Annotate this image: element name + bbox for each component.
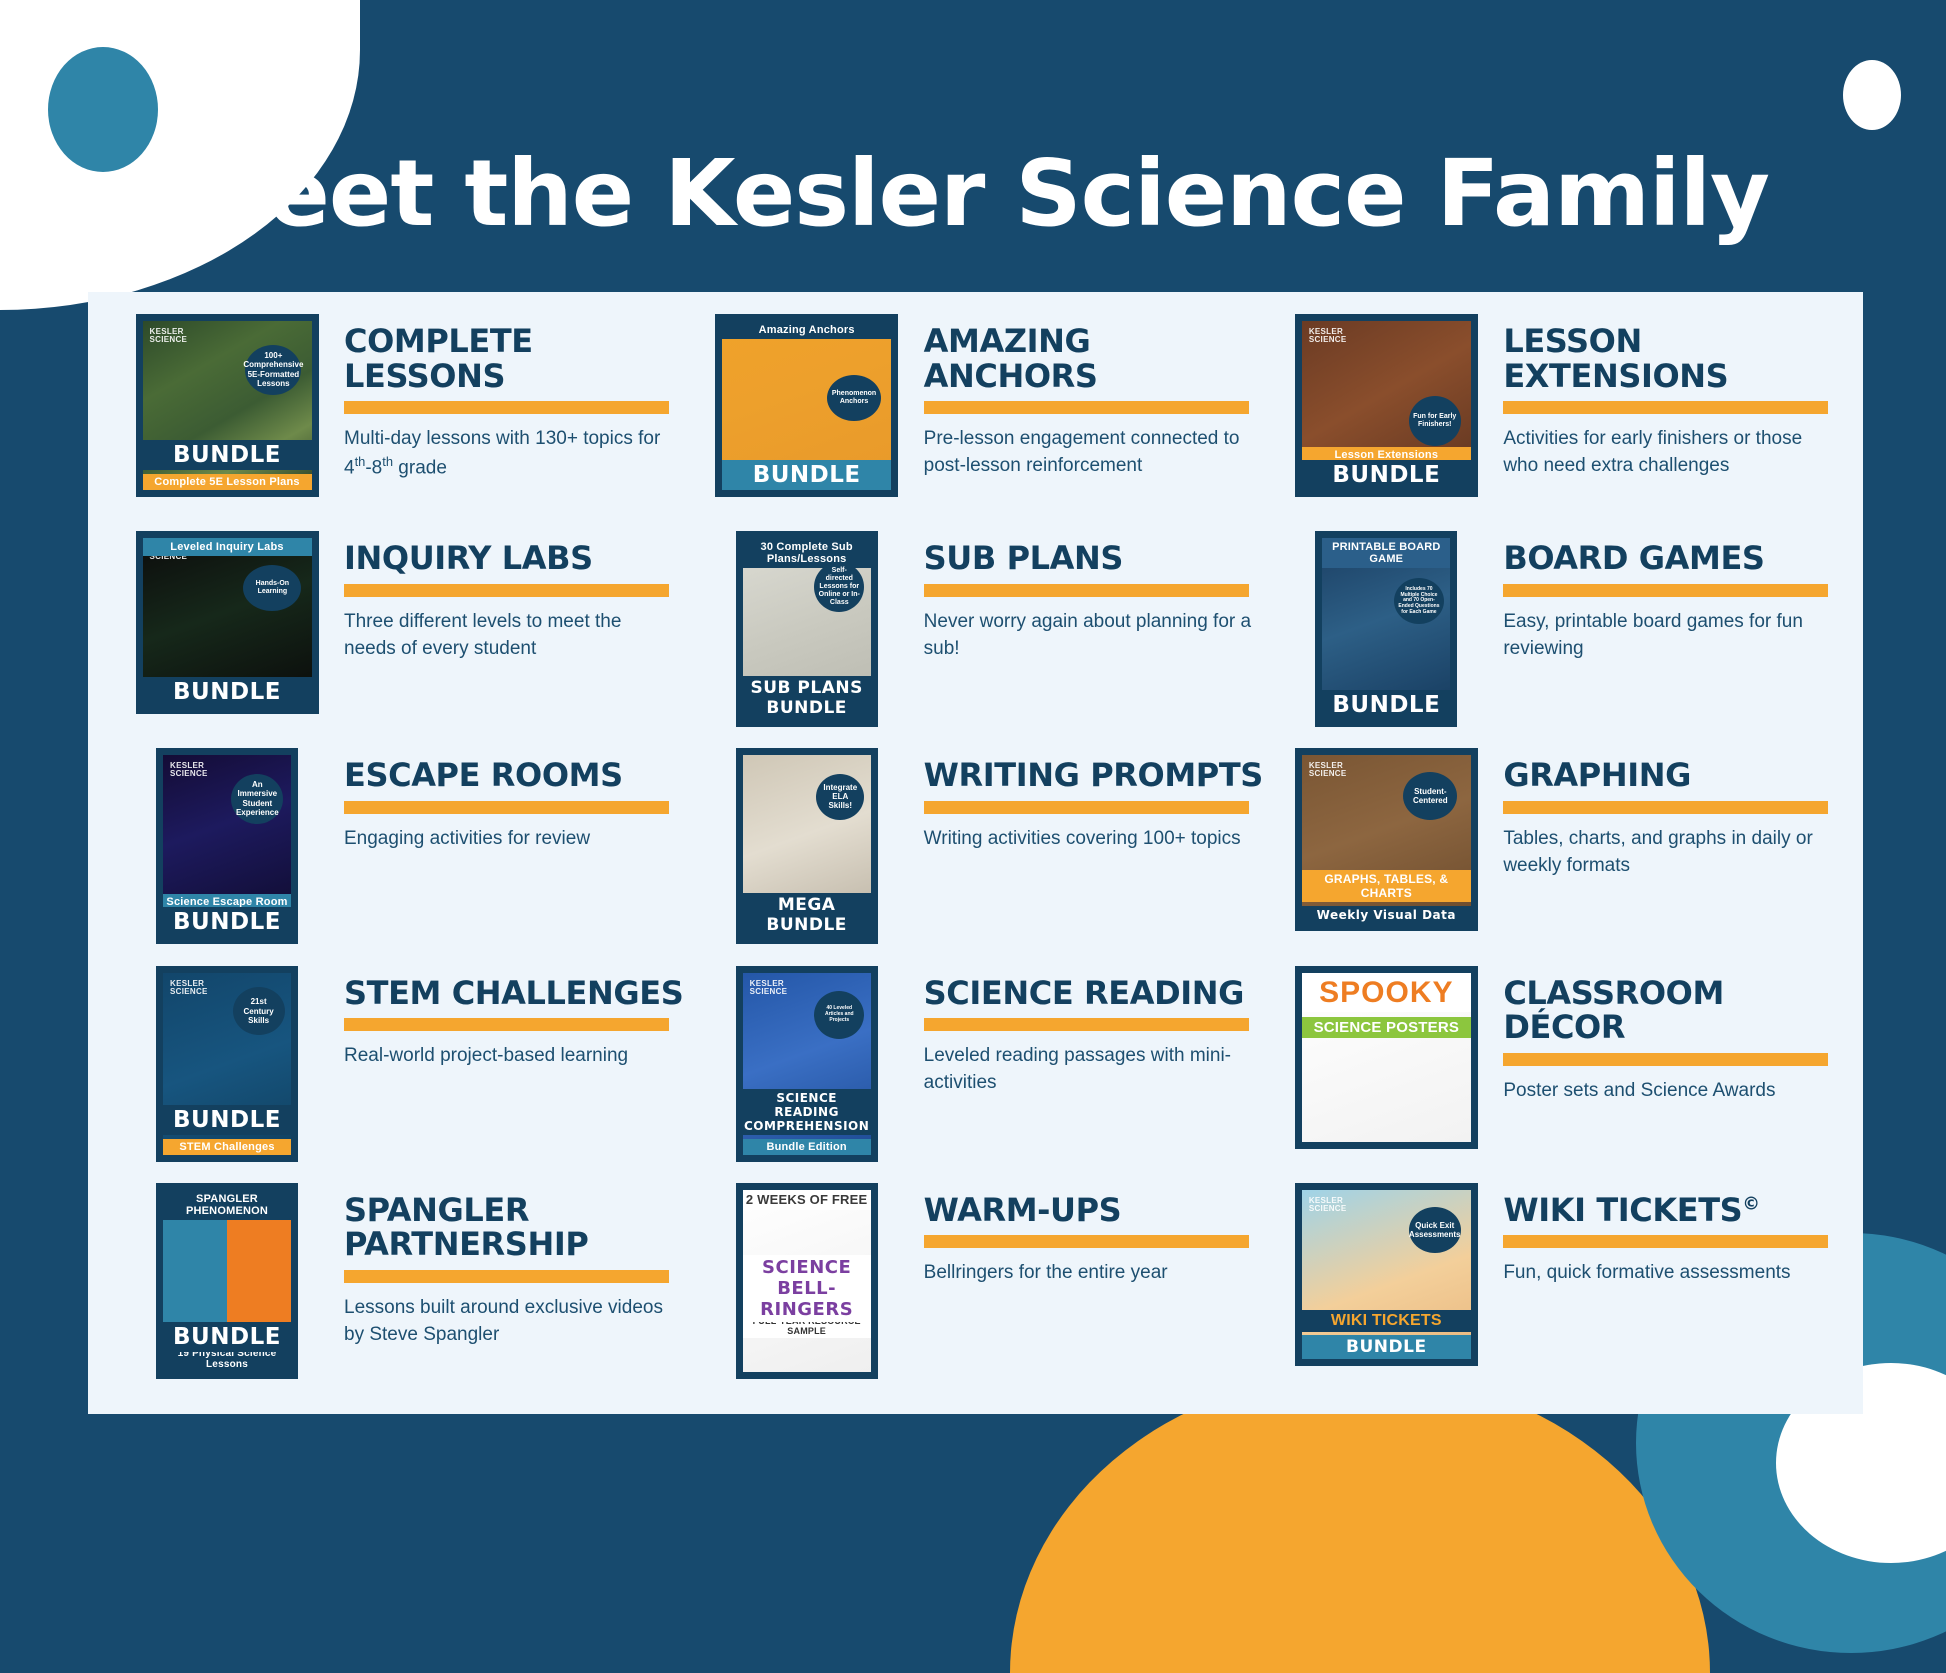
product-title: INQUIRY LABS [344, 541, 686, 576]
product-card[interactable]: 2 WEEKS OF FREEFULL-YEAR RESOURCE SAMPLE… [690, 1183, 1266, 1400]
product-thumbnail[interactable]: KESLER SCIENCELeveled Inquiry LabsHands-… [136, 531, 319, 714]
copyright-superscript: © [1742, 1194, 1759, 1214]
product-card[interactable]: KESLER SCIENCESPANGLER PHENOMENON19 Phys… [110, 1183, 686, 1400]
product-info: LESSON EXTENSIONSActivities for early fi… [1481, 314, 1845, 480]
thumbnail-top-label: PRINTABLE BOARD GAME [1322, 538, 1450, 568]
product-thumbnail[interactable]: KESLER SCIENCE21st Century SkillsSTEM Ch… [156, 966, 298, 1162]
product-card[interactable]: KESLER SCIENCE40 Leveled Articles and Pr… [690, 966, 1266, 1183]
product-description: Writing activities covering 100+ topics [924, 826, 1254, 853]
thumbnail-bundle-label: MEGA BUNDLE [743, 893, 871, 937]
thumbnail-badge: An Immersive Student Experience [231, 774, 283, 824]
product-info: BOARD GAMESEasy, printable board games f… [1481, 531, 1845, 662]
product-thumbnail-wrap: 30 Complete Sub Plans/LessonsSelf-direct… [712, 531, 902, 727]
product-thumbnail-wrap: KESLER SCIENCESPANGLER PHENOMENON19 Phys… [132, 1183, 322, 1379]
product-description: Activities for early finishers or those … [1503, 426, 1833, 480]
product-thumbnail-wrap: KESLER SCIENCE40 Leveled Articles and Pr… [712, 966, 902, 1162]
product-info: WIKI TICKETS©Fun, quick formative assess… [1481, 1183, 1845, 1288]
product-thumbnail-wrap: KESLER SCIENCEStudent-CenteredGRAPHS, TA… [1291, 748, 1481, 931]
product-thumbnail[interactable]: KESLER SCIENCESPANGLER PHENOMENON19 Phys… [156, 1183, 298, 1379]
product-thumbnail-wrap: KESLER SCIENCEPRINTABLE BOARD GAMEInclud… [1291, 531, 1481, 727]
product-thumbnail[interactable]: Amazing AnchorsPhenomenon AnchorsBUNDLE [715, 314, 898, 497]
product-description: Lessons built around exclusive videos by… [344, 1295, 674, 1349]
thumbnail-badge: Integrate ELA Skills! [816, 774, 864, 820]
thumbnail-bundle-label: BUNDLE [163, 1105, 291, 1135]
product-description: Leveled reading passages with mini-activ… [924, 1043, 1254, 1097]
product-info: COMPLETE LESSONSMulti-day lessons with 1… [322, 314, 686, 482]
thumbnail-top-label: 30 Complete Sub Plans/Lessons [743, 538, 871, 568]
kesler-science-logo: KESLER SCIENCE [1309, 1197, 1361, 1213]
product-description: Multi-day lessons with 130+ topics for 4… [344, 426, 674, 482]
thumbnail-badge: Includes 70 Multiple Choice and 70 Open-… [1394, 578, 1444, 624]
orange-divider [344, 401, 669, 414]
product-grid: KESLER SCIENCE100+ Comprehensive 5E-Form… [88, 292, 1863, 1414]
orange-divider [924, 1235, 1249, 1248]
product-description: Tables, charts, and graphs in daily or w… [1503, 826, 1833, 880]
product-description: Bellringers for the entire year [924, 1260, 1254, 1287]
thumbnail-bundle-label: SCIENCE READING COMPREHENSION [743, 1089, 871, 1135]
thumbnail-bundle-label: BUNDLE [1322, 690, 1450, 720]
orange-divider [1503, 1235, 1828, 1248]
kesler-science-logo: KESLER SCIENCE [150, 328, 202, 344]
product-description: Never worry again about planning for a s… [924, 609, 1254, 663]
thumbnail-badge: Fun for Early Finishers! [1409, 396, 1461, 446]
product-card[interactable]: Amazing AnchorsPhenomenon AnchorsBUNDLEA… [690, 314, 1266, 531]
product-thumbnail-wrap: SPOOKYSCIENCE POSTERS [1291, 966, 1481, 1149]
thumbnail-badge: Phenomenon Anchors [827, 375, 881, 421]
thumbnail-badge: 100+ Comprehensive 5E-Formatted Lessons [245, 345, 301, 395]
thumbnail-sub-label: Complete 5E Lesson Plans [143, 474, 312, 490]
product-title: CLASSROOM DÉCOR [1503, 976, 1845, 1045]
product-thumbnail-wrap: KESLER SCIENCELeveled Inquiry LabsHands-… [132, 531, 322, 714]
product-thumbnail[interactable]: KESLER SCIENCEPRINTABLE BOARD GAMEInclud… [1315, 531, 1457, 727]
thumbnail-top-label: Leveled Inquiry Labs [143, 538, 312, 556]
orange-divider [1503, 1053, 1828, 1066]
product-title: BOARD GAMES [1503, 541, 1845, 576]
family-panel: KESLER SCIENCE100+ Comprehensive 5E-Form… [88, 292, 1863, 1414]
product-thumbnail[interactable]: Integrate ELA Skills!Science Writing Pro… [736, 748, 878, 944]
product-info: STEM CHALLENGESReal-world project-based … [322, 966, 686, 1071]
thumbnail-bundle-label: Weekly Visual Data [1302, 906, 1471, 924]
product-title: SPANGLER PARTNERSHIP [344, 1193, 686, 1262]
product-info: ESCAPE ROOMSEngaging activities for revi… [322, 748, 686, 853]
thumbnail-badge: 21st Century Skills [233, 987, 285, 1035]
orange-divider [1503, 584, 1828, 597]
product-thumbnail-wrap: KESLER SCIENCEFun for Early Finishers!Le… [1291, 314, 1481, 497]
orange-divider [344, 801, 669, 814]
product-info: GRAPHINGTables, charts, and graphs in da… [1481, 748, 1845, 879]
thumbnail-top-label: Amazing Anchors [722, 321, 891, 339]
product-description: Poster sets and Science Awards [1503, 1078, 1833, 1105]
kesler-science-logo: KESLER SCIENCE [750, 980, 802, 996]
product-title: SUB PLANS [924, 541, 1266, 576]
product-thumbnail[interactable]: KESLER SCIENCEFun for Early Finishers!Le… [1295, 314, 1478, 497]
orange-divider [1503, 401, 1828, 414]
orange-divider [344, 584, 669, 597]
thumbnail-sub-label: STEM Challenges [163, 1139, 291, 1155]
thumbnail-bundle-label: BUNDLE [163, 1322, 291, 1352]
thumbnail-badge: Quick Exit Assessments [1409, 1207, 1461, 1253]
decorative-white-dot [1843, 60, 1901, 130]
page-title: Meet the Kesler Science Family [0, 140, 1946, 247]
product-card[interactable]: KESLER SCIENCE21st Century SkillsSTEM Ch… [110, 966, 686, 1183]
thumbnail-bundle-label: BUNDLE [163, 907, 291, 937]
product-card[interactable]: KESLER SCIENCEQuick Exit AssessmentsWIKI… [1269, 1183, 1845, 1400]
product-title: AMAZING ANCHORS [924, 324, 1266, 393]
thumbnail-top-label: SPOOKY [1302, 973, 1471, 1012]
product-info: AMAZING ANCHORSPre-lesson engagement con… [902, 314, 1266, 480]
product-description: Real-world project-based learning [344, 1043, 674, 1070]
product-thumbnail-wrap: KESLER SCIENCE21st Century SkillsSTEM Ch… [132, 966, 322, 1162]
product-thumbnail[interactable]: KESLER SCIENCEAn Immersive Student Exper… [156, 748, 298, 944]
product-title: SCIENCE READING [924, 976, 1266, 1011]
product-info: SUB PLANSNever worry again about plannin… [902, 531, 1266, 662]
product-card[interactable]: KESLER SCIENCE100+ Comprehensive 5E-Form… [110, 314, 686, 531]
thumbnail-bundle-label: BUNDLE [722, 460, 891, 490]
product-description: Easy, printable board games for fun revi… [1503, 609, 1833, 663]
product-description: Pre-lesson engagement connected to post-… [924, 426, 1254, 480]
product-title: WRITING PROMPTS [924, 758, 1266, 793]
product-card[interactable]: SPOOKYSCIENCE POSTERSCLASSROOM DÉCORPost… [1269, 966, 1845, 1183]
thumbnail-sub-label: Bundle Edition [743, 1139, 871, 1155]
product-thumbnail-wrap: 2 WEEKS OF FREEFULL-YEAR RESOURCE SAMPLE… [712, 1183, 902, 1379]
product-thumbnail-wrap: Amazing AnchorsPhenomenon AnchorsBUNDLE [712, 314, 902, 497]
product-thumbnail-wrap: Integrate ELA Skills!Science Writing Pro… [712, 748, 902, 944]
orange-divider [924, 801, 1249, 814]
thumbnail-badge: 40 Leveled Articles and Projects [814, 991, 864, 1039]
kesler-science-logo: KESLER SCIENCE [1309, 762, 1361, 778]
product-thumbnail-wrap: KESLER SCIENCE100+ Comprehensive 5E-Form… [132, 314, 322, 497]
product-card[interactable]: Integrate ELA Skills!Science Writing Pro… [690, 748, 1266, 965]
thumbnail-top-label: SPANGLER PHENOMENON [163, 1190, 291, 1220]
product-info: SCIENCE READINGLeveled reading passages … [902, 966, 1266, 1097]
thumbnail-sub-label: GRAPHS, TABLES, & CHARTS [1302, 870, 1471, 902]
product-thumbnail[interactable]: KESLER SCIENCEQuick Exit AssessmentsWIKI… [1295, 1183, 1478, 1366]
product-card[interactable]: KESLER SCIENCEAn Immersive Student Exper… [110, 748, 686, 965]
product-title: ESCAPE ROOMS [344, 758, 686, 793]
product-thumbnail[interactable]: SPOOKYSCIENCE POSTERS [1295, 966, 1478, 1149]
thumbnail-bundle-label: SUB PLANS BUNDLE [743, 676, 871, 720]
product-description: Three different levels to meet the needs… [344, 609, 674, 663]
product-description: Fun, quick formative assessments [1503, 1260, 1833, 1287]
orange-divider [924, 401, 1249, 414]
thumbnail-bundle-label: SCIENCE BELL-RINGERS [743, 1255, 871, 1322]
product-title: WARM-UPS [924, 1193, 1266, 1228]
product-title: COMPLETE LESSONS [344, 324, 686, 393]
product-card[interactable]: KESLER SCIENCEFun for Early Finishers!Le… [1269, 314, 1845, 531]
product-thumbnail-wrap: KESLER SCIENCEQuick Exit AssessmentsWIKI… [1291, 1183, 1481, 1366]
product-card[interactable]: 30 Complete Sub Plans/LessonsSelf-direct… [690, 531, 1266, 748]
product-card[interactable]: KESLER SCIENCELeveled Inquiry LabsHands-… [110, 531, 686, 748]
product-card[interactable]: KESLER SCIENCEStudent-CenteredGRAPHS, TA… [1269, 748, 1845, 965]
thumbnail-bundle-label: BUNDLE [1302, 460, 1471, 490]
product-info: CLASSROOM DÉCORPoster sets and Science A… [1481, 966, 1845, 1105]
product-title: STEM CHALLENGES [344, 976, 686, 1011]
product-thumbnail[interactable]: KESLER SCIENCEStudent-CenteredGRAPHS, TA… [1295, 748, 1478, 931]
thumbnail-bundle-label: BUNDLE [143, 677, 312, 707]
product-thumbnail[interactable]: KESLER SCIENCE100+ Comprehensive 5E-Form… [136, 314, 319, 497]
orange-divider [924, 1018, 1249, 1031]
thumbnail-sub-label: SCIENCE POSTERS [1302, 1017, 1471, 1038]
product-description: Engaging activities for review [344, 826, 674, 853]
product-card[interactable]: KESLER SCIENCEPRINTABLE BOARD GAMEInclud… [1269, 531, 1845, 748]
product-thumbnail[interactable]: 2 WEEKS OF FREEFULL-YEAR RESOURCE SAMPLE… [736, 1183, 878, 1379]
product-title: GRAPHING [1503, 758, 1845, 793]
kesler-science-logo: KESLER SCIENCE [170, 762, 222, 778]
orange-divider [344, 1018, 669, 1031]
product-info: WARM-UPSBellringers for the entire year [902, 1183, 1266, 1288]
thumbnail-top-label: 2 WEEKS OF FREE [743, 1190, 871, 1210]
product-info: SPANGLER PARTNERSHIPLessons built around… [322, 1183, 686, 1349]
product-title: WIKI TICKETS© [1503, 1193, 1845, 1228]
thumbnail-bundle-label: BUNDLE [143, 440, 312, 470]
orange-divider [344, 1270, 669, 1283]
product-title: LESSON EXTENSIONS [1503, 324, 1845, 393]
thumbnail-bundle-label: BUNDLE [1302, 1335, 1471, 1359]
product-thumbnail-wrap: KESLER SCIENCEAn Immersive Student Exper… [132, 748, 322, 944]
product-thumbnail[interactable]: KESLER SCIENCE40 Leveled Articles and Pr… [736, 966, 878, 1162]
product-info: INQUIRY LABSThree different levels to me… [322, 531, 686, 662]
orange-divider [924, 584, 1249, 597]
kesler-science-logo: KESLER SCIENCE [1309, 328, 1361, 344]
kesler-science-logo: KESLER SCIENCE [170, 980, 222, 996]
orange-divider [1503, 801, 1828, 814]
thumbnail-sub-label: WIKI TICKETS [1302, 1310, 1471, 1332]
product-info: WRITING PROMPTSWriting activities coveri… [902, 748, 1266, 853]
decorative-orange-arc [1010, 1373, 1710, 1673]
product-thumbnail[interactable]: 30 Complete Sub Plans/LessonsSelf-direct… [736, 531, 878, 727]
thumbnail-badge: Self-directed Lessons for Online or In-C… [814, 562, 864, 612]
